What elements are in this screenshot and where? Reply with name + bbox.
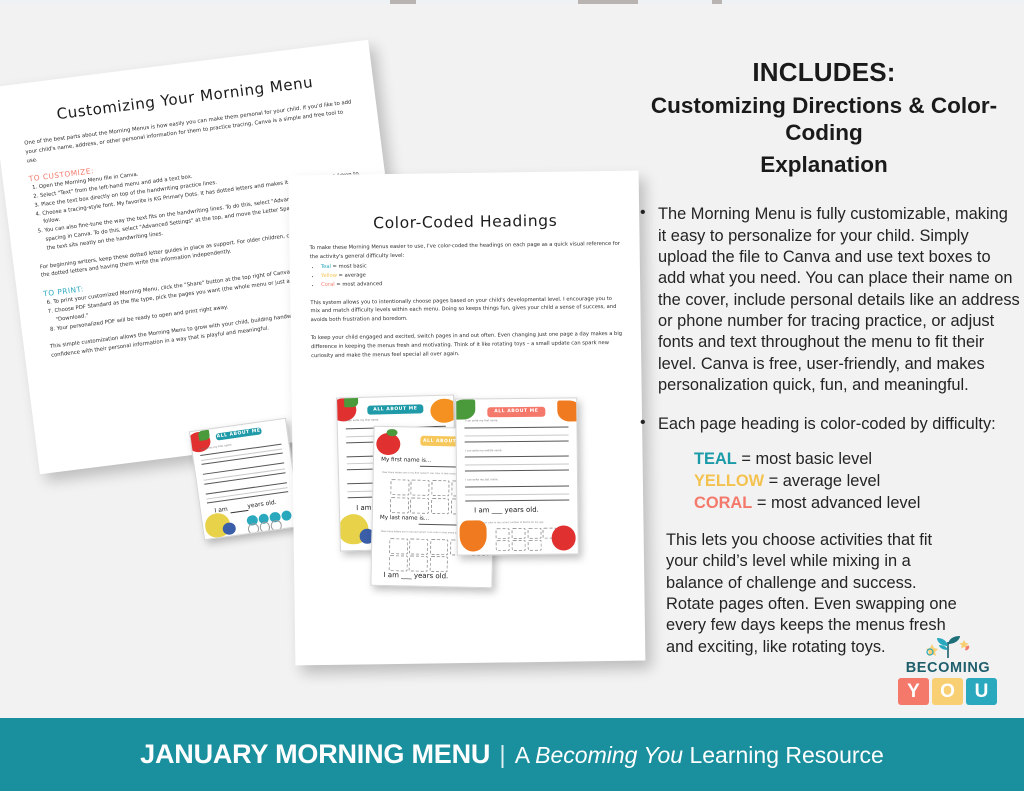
legend-value: = most basic [331,263,367,269]
legend-key-yellow: Yellow [321,272,337,278]
legend-key-coral: CORAL [694,494,752,512]
worksheet-heading: ALL ABOUT ME [487,406,545,417]
slide-canvas: Customizing Your Morning Menu One of the… [0,0,1024,791]
worksheet-heading: ALL ABOUT ME [215,428,262,441]
legend-value-coral: = most advanced level [752,494,920,512]
paragraph-2: This system allows you to intentionally … [310,294,622,325]
becoming-you-logo: BECOMING Y O U [884,636,1012,710]
worksheet-prompt: My first name is... [381,457,431,464]
paragraph-3: To keep your child engaged and excited, … [311,330,623,361]
worksheet-count-prompt: How many letters are in my first name? I… [382,471,465,476]
worksheet-color-prompt: I can color in the correct number of blo… [481,521,544,525]
color-code-legend: TEAL = most basic level YELLOW = average… [694,449,1020,514]
legend-key-teal: Teal [321,264,331,270]
worksheet-age-line: I am ___ years old. [474,506,539,515]
legend-row-coral: CORAL = most advanced level [694,493,1020,515]
legend-value-teal: = most basic level [737,450,872,468]
difficulty-legend-list: Teal = most basic Yellow = average Coral… [310,259,622,290]
logo-block-y: Y [898,678,929,705]
feature-bullets: The Morning Menu is fully customizable, … [628,204,1020,435]
worksheet-prompt: I can write my first name. [346,419,379,423]
includes-heading: INCLUDES: [628,58,1020,88]
worksheet-thumbnail-small[interactable]: ALL ABOUT ME I can write my first name. … [189,418,301,541]
includes-subheading-line1: Customizing Directions & Color-Coding [628,92,1020,147]
plant-sprout-icon [884,630,1012,660]
bottom-banner: JANUARY MORNING MENU | A Becoming You Le… [0,718,1024,791]
list-item: Each page heading is color-coded by diff… [628,414,1020,435]
banner-subtitle: A Becoming You Learning Resource [515,742,884,769]
legend-key-coral: Coral [321,281,335,287]
legend-value: = average [337,272,366,278]
legend-key-yellow: YELLOW [694,472,764,490]
logo-block-u: U [966,678,997,705]
legend-row-teal: TEAL = most basic level [694,449,1020,471]
page-title: Color-Coded Headings [309,211,621,233]
legend-row-yellow: YELLOW = average level [694,471,1020,493]
banner-sub-post: Learning Resource [683,742,884,768]
worksheet-heading: ALL ABOUT ME [367,404,423,415]
top-edge-artifact [0,0,1024,4]
banner-sub-brand: Becoming You [535,742,683,768]
legend-key-teal: TEAL [694,450,737,468]
banner-sub-pre: A [515,742,535,768]
logo-letter-blocks: Y O U [898,678,997,705]
list-item: The Morning Menu is fully customizable, … [628,204,1020,396]
legend-value-yellow: = average level [764,472,880,490]
includes-subheading-line2: Explanation [628,151,1020,178]
banner-content: JANUARY MORNING MENU | A Becoming You Le… [140,739,884,770]
logo-word-becoming: BECOMING [892,660,1004,676]
worksheet-thumbnail-coral[interactable]: ALL ABOUT ME I can write my first name. … [455,397,579,555]
worksheet-prompt: My last name is... [380,515,429,522]
banner-divider: | [499,741,506,770]
worksheet-prompt: I can write my first name. [465,419,498,422]
right-info-panel: INCLUDES: Customizing Directions & Color… [628,58,1020,658]
worksheet-age-line: I am ___ years old. [383,571,448,580]
worksheet-prompt: I can write my last name. [465,478,498,481]
logo-block-o: O [932,678,963,705]
worksheet-prompt: I can write my middle name. [465,449,502,452]
banner-title: JANUARY MORNING MENU [140,739,490,770]
legend-value: = most advanced [335,281,383,288]
worksheet-count-prompt-2: How many letters are in my last name? I … [381,530,463,535]
